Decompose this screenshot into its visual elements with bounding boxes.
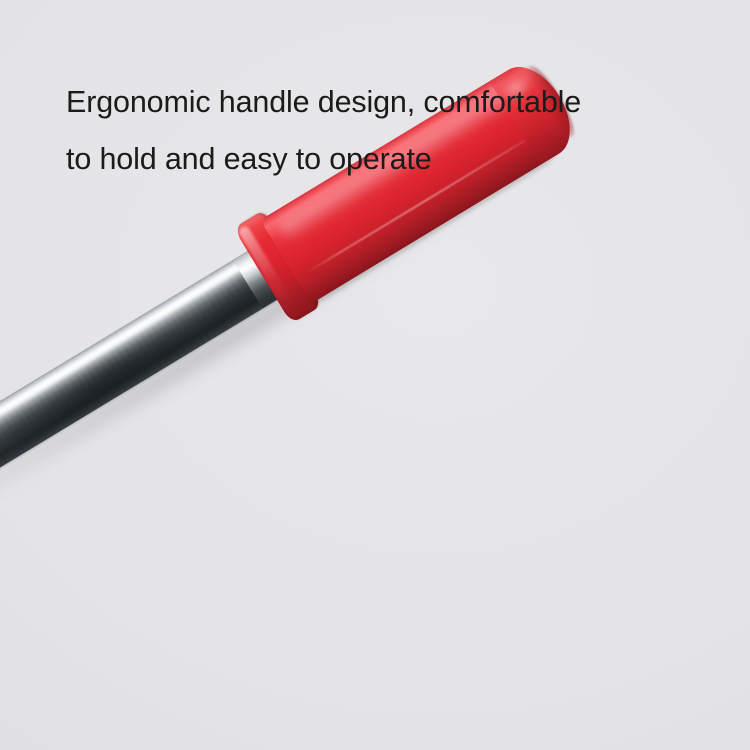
product-feature-image: Ergonomic handle design, comfortable to … xyxy=(0,0,750,750)
feature-caption: Ergonomic handle design, comfortable to … xyxy=(66,74,706,188)
